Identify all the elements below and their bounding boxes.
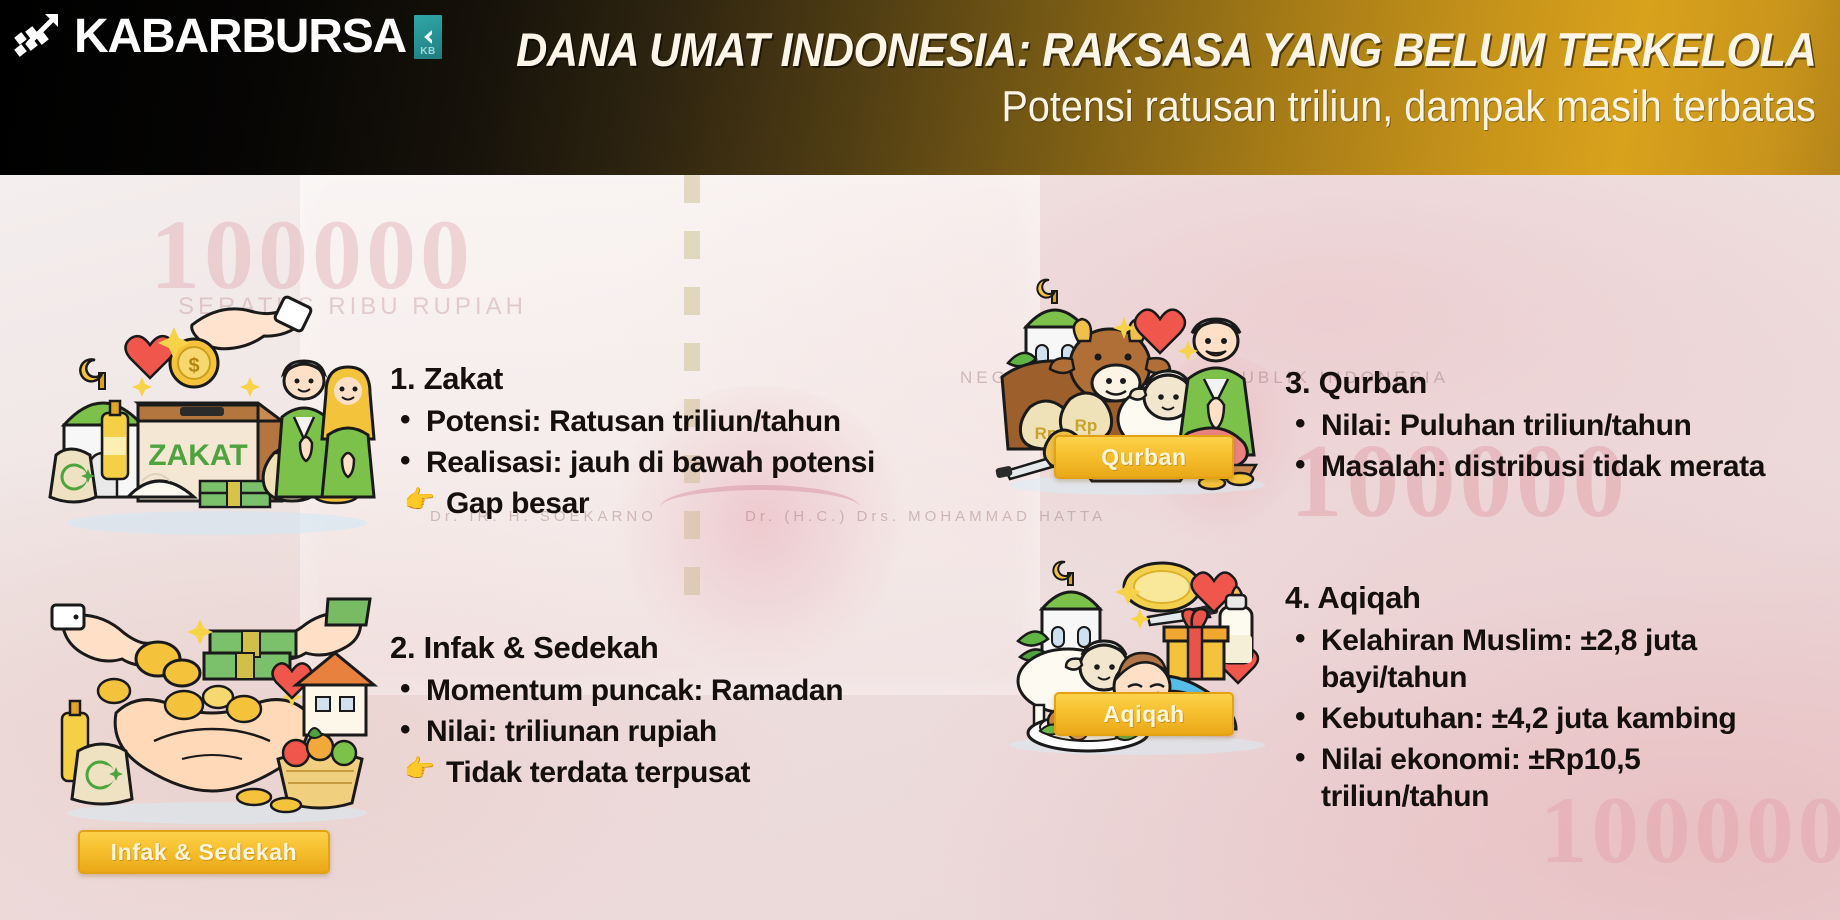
item-aqiqah-title: 4. Aqiqah bbox=[1285, 580, 1815, 616]
item-aqiqah: 4. Aqiqah Kelahiran Muslim: ±2,8 juta ba… bbox=[1285, 580, 1815, 816]
brand-badge-label: KB bbox=[414, 46, 442, 57]
zakat-illustration: $ ZAKAT bbox=[42, 285, 382, 535]
list-item: Masalah: distribusi tidak merata bbox=[1285, 448, 1765, 485]
banner-aqiqah: Aqiqah bbox=[1054, 692, 1234, 736]
list-item: Nilai ekonomi: ±Rp10,5 triliun/tahun bbox=[1285, 741, 1815, 815]
brand-badge: KB bbox=[414, 15, 442, 59]
item-zakat: 1. Zakat Potensi: Ratusan triliun/tahun … bbox=[390, 361, 875, 522]
zakat-box-label: ZAKAT bbox=[148, 439, 247, 472]
svg-text:Rp: Rp bbox=[1075, 416, 1098, 435]
brand-name: KABARBURSA bbox=[74, 10, 406, 64]
list-item-label: Gap besar bbox=[446, 487, 589, 520]
banner-label: Qurban bbox=[1101, 444, 1186, 471]
brand-logo[interactable]: KABARBURSA KB bbox=[14, 6, 442, 68]
item-infak-title: 2. Infak & Sedekah bbox=[390, 630, 843, 666]
chevron-left-icon bbox=[418, 27, 438, 47]
pointing-hand-icon: 👉 bbox=[404, 488, 435, 513]
item-infak: 2. Infak & Sedekah Momentum puncak: Rama… bbox=[390, 630, 843, 791]
infographic-root: KABARBURSA KB DANA UMAT INDONESIA: RAKSA… bbox=[0, 0, 1840, 920]
list-item: Nilai: Puluhan triliun/tahun bbox=[1285, 407, 1765, 444]
item-qurban: 3. Qurban Nilai: Puluhan triliun/tahun M… bbox=[1285, 365, 1765, 485]
list-item: Realisasi: jauh di bawah potensi bbox=[390, 444, 875, 481]
content-stage: 100000 SERATUS RIBU RUPIAH NEGARA KESATU… bbox=[0, 175, 1840, 920]
header-title: DANA UMAT INDONESIA: RAKSASA YANG BELUM … bbox=[516, 26, 1816, 73]
item-aqiqah-bullets: Kelahiran Muslim: ±2,8 juta bayi/tahun K… bbox=[1285, 622, 1815, 816]
item-zakat-bullets: Potensi: Ratusan triliun/tahun Realisasi… bbox=[390, 403, 875, 523]
banner-label: Aqiqah bbox=[1103, 701, 1185, 728]
list-item: Kebutuhan: ±4,2 juta kambing bbox=[1285, 700, 1815, 737]
list-item: Potensi: Ratusan triliun/tahun bbox=[390, 403, 875, 440]
arrow-up-chart-icon bbox=[14, 10, 68, 64]
banner-label: Infak & Sedekah bbox=[111, 839, 298, 866]
list-item: 👉Tidak terdata terpusat bbox=[390, 754, 843, 791]
list-item: Kelahiran Muslim: ±2,8 juta bayi/tahun bbox=[1285, 622, 1815, 696]
item-infak-bullets: Momentum puncak: Ramadan Nilai: triliuna… bbox=[390, 672, 843, 792]
item-qurban-title: 3. Qurban bbox=[1285, 365, 1765, 401]
page-header: KABARBURSA KB DANA UMAT INDONESIA: RAKSA… bbox=[0, 0, 1840, 175]
svg-text:$: $ bbox=[188, 355, 199, 377]
list-item: Momentum puncak: Ramadan bbox=[390, 672, 843, 709]
list-item: Nilai: triliunan rupiah bbox=[390, 713, 843, 750]
item-qurban-bullets: Nilai: Puluhan triliun/tahun Masalah: di… bbox=[1285, 407, 1765, 485]
item-zakat-title: 1. Zakat bbox=[390, 361, 875, 397]
list-item: 👉Gap besar bbox=[390, 485, 875, 522]
banner-qurban: Qurban bbox=[1054, 435, 1234, 479]
infak-sedekah-illustration bbox=[42, 595, 382, 825]
banner-infak-sedekah: Infak & Sedekah bbox=[78, 830, 330, 874]
header-subtitle: Potensi ratusan triliun, dampak masih te… bbox=[1002, 84, 1816, 130]
list-item-label: Tidak terdata terpusat bbox=[446, 756, 750, 789]
pointing-hand-icon: 👉 bbox=[404, 757, 435, 782]
